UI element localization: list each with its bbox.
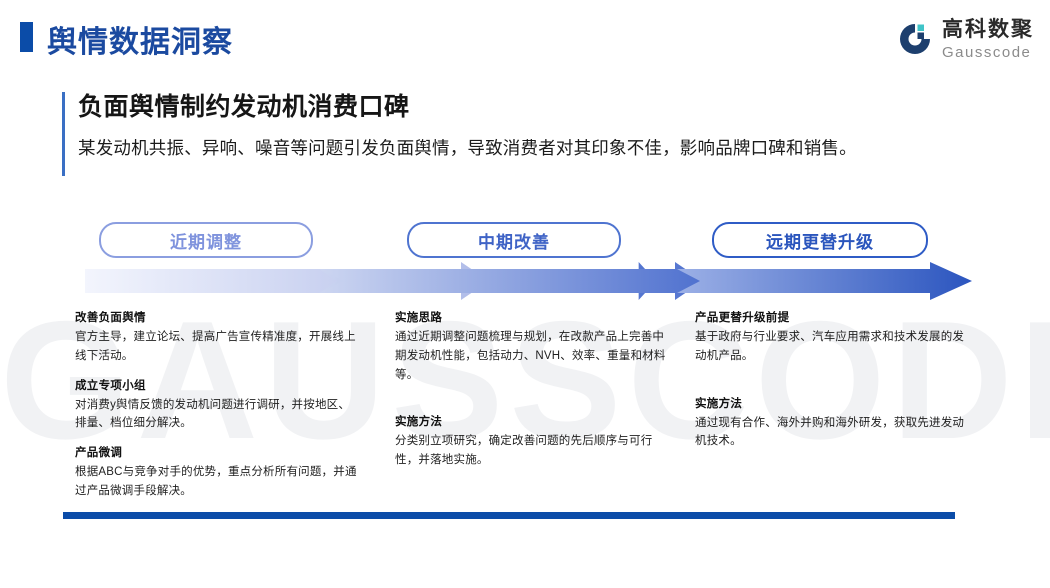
block-title: 产品微调	[75, 445, 360, 462]
block-title: 改善负面舆情	[75, 310, 360, 327]
block-title: 成立专项小组	[75, 378, 360, 395]
column-mid-term: 实施思路 通过近期调整问题梳理与规划，在改款产品上完善中期发动机性能，包括动力、…	[395, 310, 670, 482]
phase-pill-long-term[interactable]: 远期更替升级	[712, 222, 928, 258]
gausscode-logo-mark-icon	[897, 21, 933, 57]
square-bullet-icon	[20, 22, 33, 52]
timeline-arrow	[85, 262, 972, 300]
phase-pill-mid-term[interactable]: 中期改善	[407, 222, 621, 258]
block-body: 对消费y舆情反馈的发动机问题进行调研，并按地区、排量、档位细分解决。	[75, 396, 360, 433]
lead-accent-rule	[62, 92, 65, 176]
block-title: 实施方法	[695, 396, 973, 413]
content-block: 成立专项小组 对消费y舆情反馈的发动机问题进行调研，并按地区、排量、档位细分解决…	[75, 378, 360, 434]
content-block: 实施思路 通过近期调整问题梳理与规划，在改款产品上完善中期发动机性能，包括动力、…	[395, 310, 670, 384]
block-body: 通过现有合作、海外并购和海外研发，获取先进发动机技术。	[695, 414, 973, 451]
slide-header: 舆情数据洞察 高科数聚 Gausscode	[0, 0, 1050, 72]
lead-block: 负面舆情制约发动机消费口碑 某发动机共振、异响、噪音等问题引发负面舆情，导致消费…	[62, 92, 962, 160]
block-body: 通过近期调整问题梳理与规划，在改款产品上完善中期发动机性能，包括动力、NVH、效…	[395, 328, 670, 384]
block-title: 实施思路	[395, 310, 670, 327]
brand-logo: 高科数聚 Gausscode	[897, 16, 1034, 62]
block-title: 实施方法	[395, 414, 670, 431]
brand-name-en: Gausscode	[942, 45, 1034, 60]
brand-name-cn: 高科数聚	[942, 19, 1034, 40]
page-title: 舆情数据洞察	[47, 17, 233, 61]
phase-pill-near-term[interactable]: 近期调整	[99, 222, 313, 258]
lead-title: 负面舆情制约发动机消费口碑	[78, 92, 962, 123]
footer-rule	[63, 512, 955, 519]
content-block: 实施方法 分类别立项研究，确定改善问题的先后顺序与可行性，并落地实施。	[395, 414, 670, 470]
block-body: 根据ABC与竞争对手的优势，重点分析所有问题，并通过产品微调手段解决。	[75, 463, 360, 500]
block-body: 官方主导，建立论坛、提高广告宣传精准度，开展线上线下活动。	[75, 328, 360, 365]
lead-subtitle: 某发动机共振、异响、噪音等问题引发负面舆情，导致消费者对其印象不佳，影响品牌口碑…	[78, 137, 962, 160]
content-block: 实施方法 通过现有合作、海外并购和海外研发，获取先进发动机技术。	[695, 396, 973, 452]
column-near-term: 改善负面舆情 官方主导，建立论坛、提高广告宣传精准度，开展线上线下活动。 成立专…	[75, 310, 360, 513]
brand-logo-text: 高科数聚 Gausscode	[942, 19, 1034, 60]
phase-pill-row: 近期调整 中期改善 远期更替升级	[0, 222, 1050, 258]
content-block: 产品更替升级前提 基于政府与行业要求、汽车应用需求和技术发展的发动机产品。	[695, 310, 973, 366]
column-long-term: 产品更替升级前提 基于政府与行业要求、汽车应用需求和技术发展的发动机产品。 实施…	[695, 310, 973, 463]
content-block: 产品微调 根据ABC与竞争对手的优势，重点分析所有问题，并通过产品微调手段解决。	[75, 445, 360, 501]
block-body: 分类别立项研究，确定改善问题的先后顺序与可行性，并落地实施。	[395, 432, 670, 469]
block-body: 基于政府与行业要求、汽车应用需求和技术发展的发动机产品。	[695, 328, 973, 365]
content-block: 改善负面舆情 官方主导，建立论坛、提高广告宣传精准度，开展线上线下活动。	[75, 310, 360, 366]
slide-root: GAUSSCODE 舆情数据洞察 高科数聚 Gausscode 负面舆情制约发动…	[0, 0, 1050, 588]
block-title: 产品更替升级前提	[695, 310, 973, 327]
